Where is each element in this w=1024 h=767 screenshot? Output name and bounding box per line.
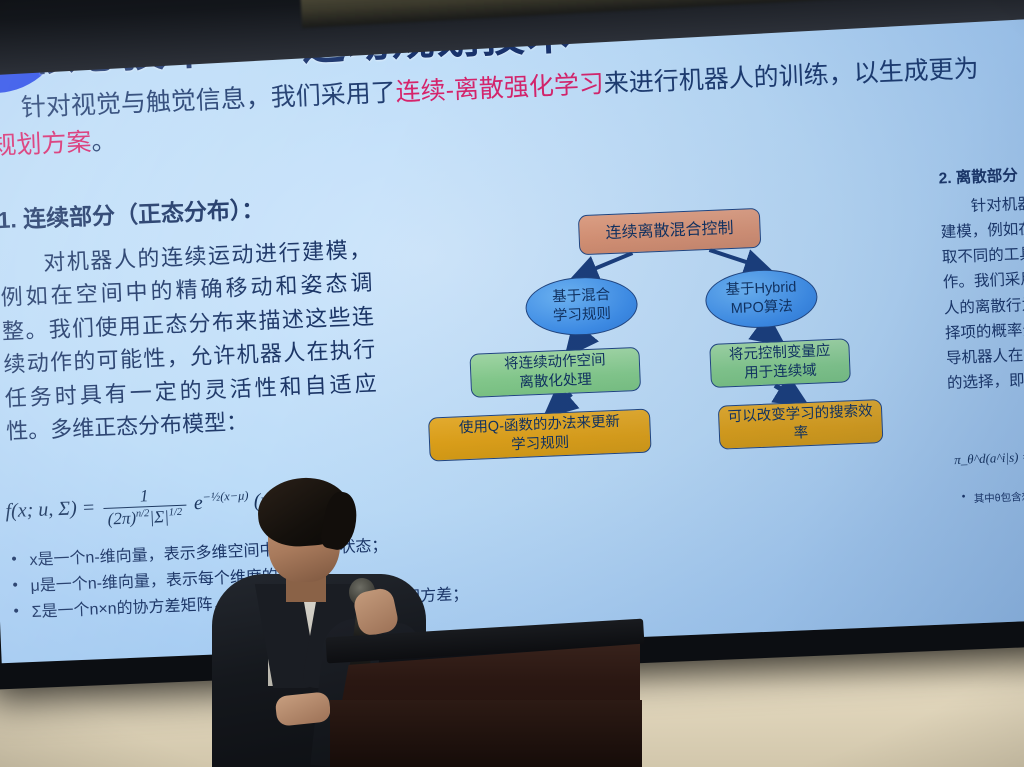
- flow-node-left-branch-2: 将连续动作空间离散化处理: [469, 347, 641, 398]
- left-column-heading: 1. 连续部分（正态分布）：: [0, 188, 370, 238]
- categorical-formula: π_θ^d(a^i|s) = Cat: [954, 443, 1024, 468]
- formula-fraction: 1 (2π)n/2|Σ|1/2: [102, 486, 186, 529]
- flowchart: 连续离散混合控制 基于混合学习规则 基于HybridMPO算法 将连续动作空间离…: [416, 203, 896, 487]
- presenter-hand-on-podium: [275, 691, 332, 726]
- flow-node-root: 连续离散混合控制: [578, 208, 761, 255]
- edge-l1-to-l2: [576, 335, 583, 343]
- flow-node-right-branch-3: 可以改变学习的搜索效率: [718, 399, 884, 450]
- flow-node-label: 将元控制变量应用于连续域: [729, 343, 832, 384]
- right-bullet-list: 其中θ包含想要: [958, 483, 1024, 507]
- list-item: 其中θ包含想要: [958, 483, 1024, 507]
- flow-node-label: 基于HybridMPO算法: [725, 279, 797, 319]
- edge-l2-to-l3: [556, 394, 571, 407]
- edge-root-to-l1: [583, 253, 633, 273]
- flow-node-left-branch-3: 使用Q-函数的办法来更新学习规则: [428, 409, 652, 462]
- lead2-text: 。: [91, 127, 117, 156]
- left-column-paragraph: 对机器人的连续运动进行建模，例如在空间中的精确移动和姿态调整。我们使用正态分布来…: [0, 233, 379, 449]
- podium-base: [330, 700, 642, 767]
- right-column-heading: 2. 离散部分（分类分布）：: [938, 157, 1024, 192]
- formula-denominator: (2π)n/2|Σ|1/2: [103, 505, 186, 528]
- edge-r1-to-r2: [761, 327, 771, 335]
- edge-root-to-r1: [709, 248, 758, 268]
- flow-node-label: 基于混合学习规则: [552, 286, 611, 325]
- edge-r2-to-r3: [775, 385, 793, 398]
- flow-node-label: 可以改变学习的搜索效率: [727, 403, 873, 446]
- left-column: 1. 连续部分（正态分布）： 对机器人的连续运动进行建模，例如在空间中的精确移动…: [0, 188, 379, 449]
- right-column-paragraph: 针对机器人的离散决策行为建模，例如在某个状态下选择抓取不同的工具或执行不同的操作…: [939, 186, 1024, 396]
- photo-canvas: 核心技术——运动规划技术 针对视觉与触觉信息，我们采用了连续-离散强化学习来进行…: [0, 0, 1024, 767]
- lead-highlight: 连续-离散强化学习: [395, 70, 604, 107]
- flow-node-label: 使用Q-函数的办法来更新学习规则: [459, 413, 621, 457]
- right-column: 2. 离散部分（分类分布）： 针对机器人的离散决策行为建模，例如在某个状态下选择…: [938, 157, 1024, 396]
- lead2-highlight: 动规划方案: [0, 128, 92, 161]
- flow-node-label: 将连续动作空间离散化处理: [504, 352, 607, 393]
- formula-lhs: f(x; u, Σ) =: [5, 497, 96, 523]
- flow-node-right-branch-2: 将元控制变量应用于连续域: [709, 338, 851, 388]
